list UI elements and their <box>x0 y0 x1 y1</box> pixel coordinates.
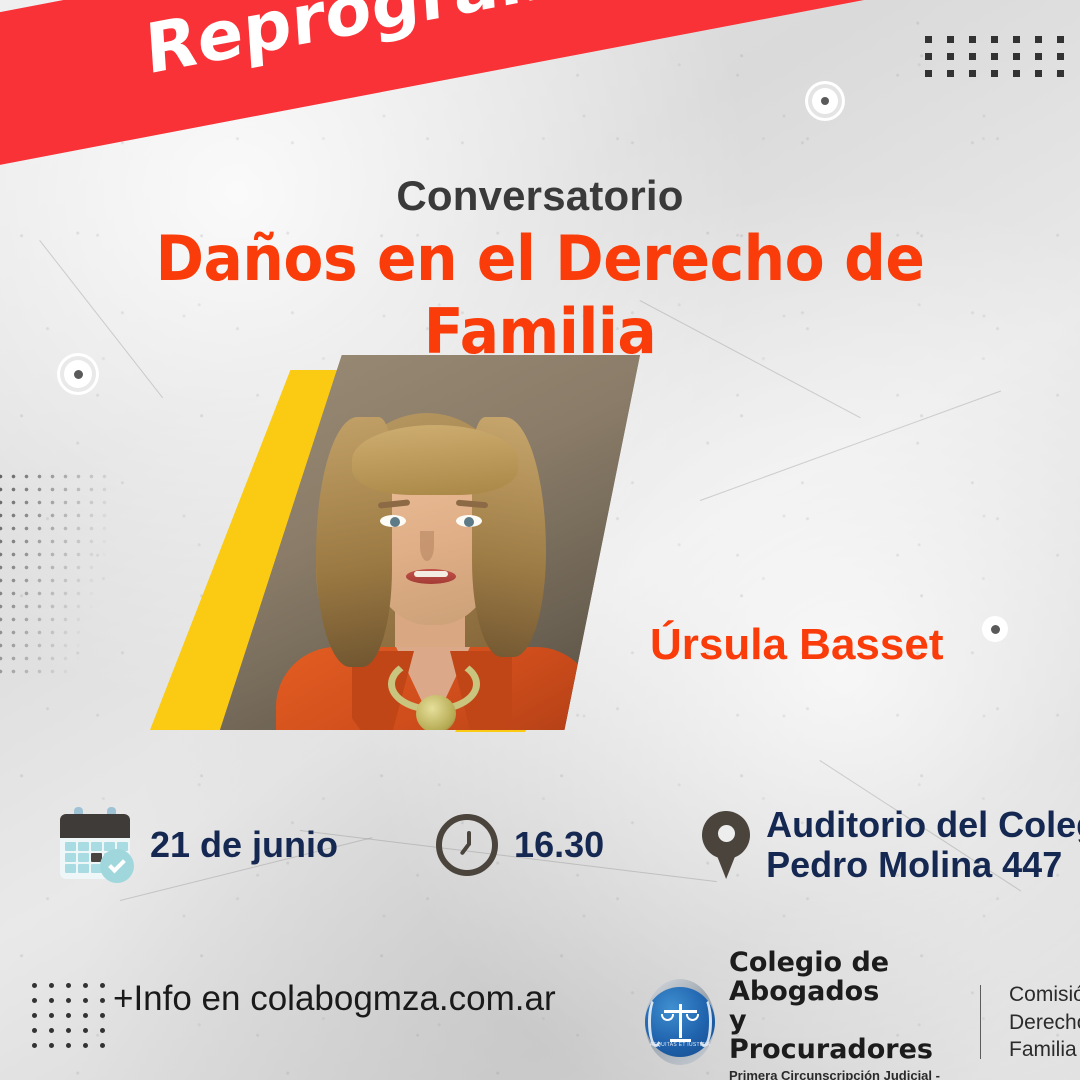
organization-subtitle: Primera Circunscripción Judicial - Mendo… <box>729 1069 950 1080</box>
event-date: 21 de junio <box>56 807 338 883</box>
commission-line-1: Comisión <box>1009 981 1080 1008</box>
event-time-text: 16.30 <box>514 825 604 865</box>
event-location: Auditorio del Colegio Pedro Molina 447 <box>702 805 1080 886</box>
clock-icon <box>436 814 498 876</box>
seal-motto: AEQUITAS ET IUSTITIA <box>645 1042 715 1048</box>
organization-name-line1: Colegio de Abogados <box>729 948 950 1006</box>
event-kicker: Conversatorio <box>0 172 1080 220</box>
event-date-text: 21 de junio <box>150 825 338 865</box>
commission-line-2: Derecho <box>1009 1009 1080 1036</box>
more-info-text: +Info en colabogmza.com.ar <box>113 979 556 1019</box>
event-info-bar: 21 de junio 16.30 Auditorio del Colegio … <box>0 790 1080 900</box>
organization-name-line2: y Procuradores <box>729 1006 950 1064</box>
event-title: Daños en el Derecho de Familia <box>32 222 1047 368</box>
check-badge-icon <box>100 849 134 883</box>
speaker-name: Úrsula Basset <box>650 620 943 670</box>
calendar-icon <box>56 807 134 883</box>
speaker-photo-block <box>0 0 1080 1080</box>
commission-name: Comisión Derecho Familia <box>1009 981 1080 1063</box>
event-location-line2: Pedro Molina 447 <box>766 845 1080 885</box>
event-time: 16.30 <box>436 814 604 876</box>
logo-divider <box>980 985 981 1059</box>
seal-icon: AEQUITAS ET IUSTITIA <box>645 979 715 1065</box>
scales-of-justice-icon <box>660 1002 700 1042</box>
organization-logo: AEQUITAS ET IUSTITIA Colegio de Abogados… <box>645 948 1080 1080</box>
event-flyer: Reprogramado Conversatorio Daños en el D… <box>0 0 1080 1080</box>
commission-line-3: Familia <box>1009 1036 1080 1063</box>
organization-name: Colegio de Abogados y Procuradores Prime… <box>729 948 950 1080</box>
map-pin-icon <box>702 811 750 879</box>
event-location-line1: Auditorio del Colegio <box>766 805 1080 845</box>
